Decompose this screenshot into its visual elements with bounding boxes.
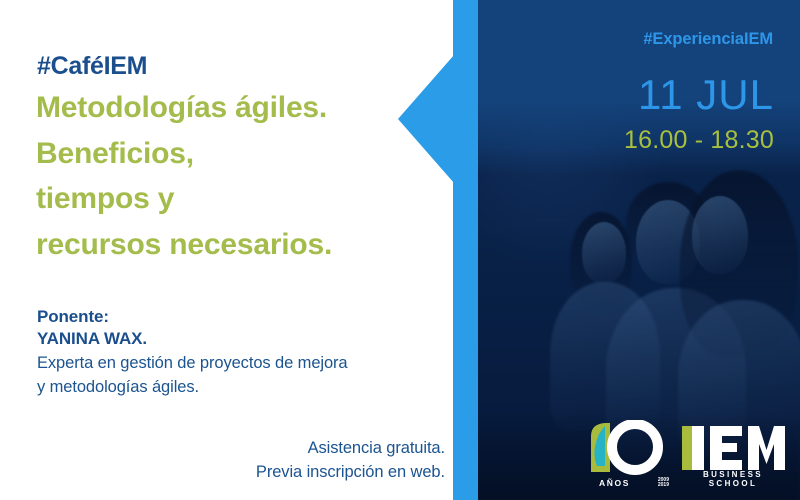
attendance-note: Asistencia gratuita. Previa inscripción … [25,436,445,484]
left-content-panel: #CaféIEM Metodologías ágiles. Beneficios… [0,0,453,500]
anniversary-years: 2009 2019 [658,478,669,489]
speaker-description-line: Experta en gestión de proyectos de mejor… [37,352,447,375]
attendance-note-line: Asistencia gratuita. [25,436,445,460]
iem-brand-mark: BUSINESS SCHOOL [680,420,786,488]
headline-line: recursos necesarios. [36,222,436,268]
anniversary-year-to: 2019 [658,483,669,488]
headline-line: tiempos y [36,176,436,222]
iem-brand-subtitle: BUSINESS SCHOOL [680,470,786,488]
anniversary-mark: AÑOS 2009 2019 [585,420,669,488]
attendance-note-line: Previa inscripción en web. [25,460,445,484]
anniversary-label: AÑOS [585,478,669,488]
speaker-label: Ponente: [37,306,447,328]
headline-line: Beneficios, [36,131,436,177]
cafe-iem-hashtag: #CaféIEM [37,52,147,81]
speaker-name: YANINA WAX. [37,328,447,351]
headline-line: Metodologías ágiles. [36,85,436,131]
event-headline: Metodologías ágiles. Beneficios, tiempos… [36,85,436,267]
event-time-range: 16.00 - 18.30 [624,128,774,153]
iem-logo: AÑOS 2009 2019 BUSINES [585,420,786,488]
event-date: 11 JUL [638,74,774,116]
speaker-description-line: y metodologías ágiles. [37,376,447,399]
blue-divider-strip [453,0,478,500]
campaign-hashtag: #ExperienciaIEM [643,30,773,49]
event-flyer: #ExperienciaIEM 11 JUL 16.00 - 18.30 AÑO… [0,0,800,500]
speaker-description: Experta en gestión de proyectos de mejor… [37,352,447,399]
speaker-block: Ponente: YANINA WAX. Experta en gestión … [37,306,447,399]
